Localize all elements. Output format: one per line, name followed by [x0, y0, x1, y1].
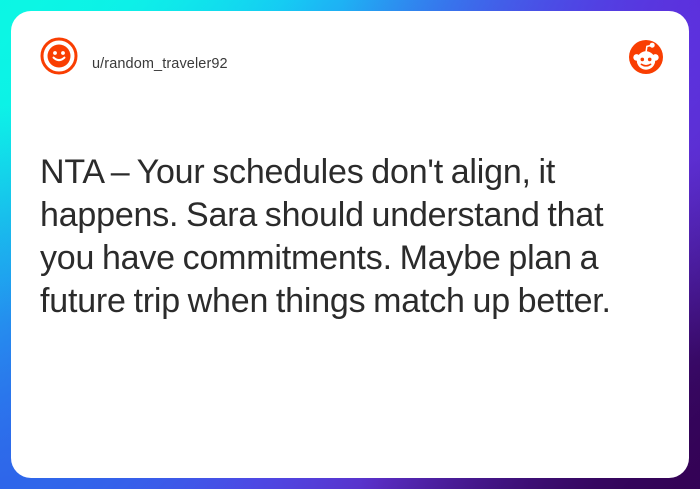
reddit-post-card: u/random_traveler92 NTA – Your schedules…: [11, 11, 689, 478]
post-body-text: NTA – Your schedules don't align, it hap…: [40, 151, 662, 323]
username-label: u/random_traveler92: [92, 56, 228, 72]
post-header: u/random_traveler92: [11, 11, 689, 101]
screenshot-stage: u/random_traveler92 NTA – Your schedules…: [0, 0, 700, 489]
smiley-face-avatar-icon: [40, 37, 78, 75]
reddit-snoo-icon: [629, 40, 663, 74]
